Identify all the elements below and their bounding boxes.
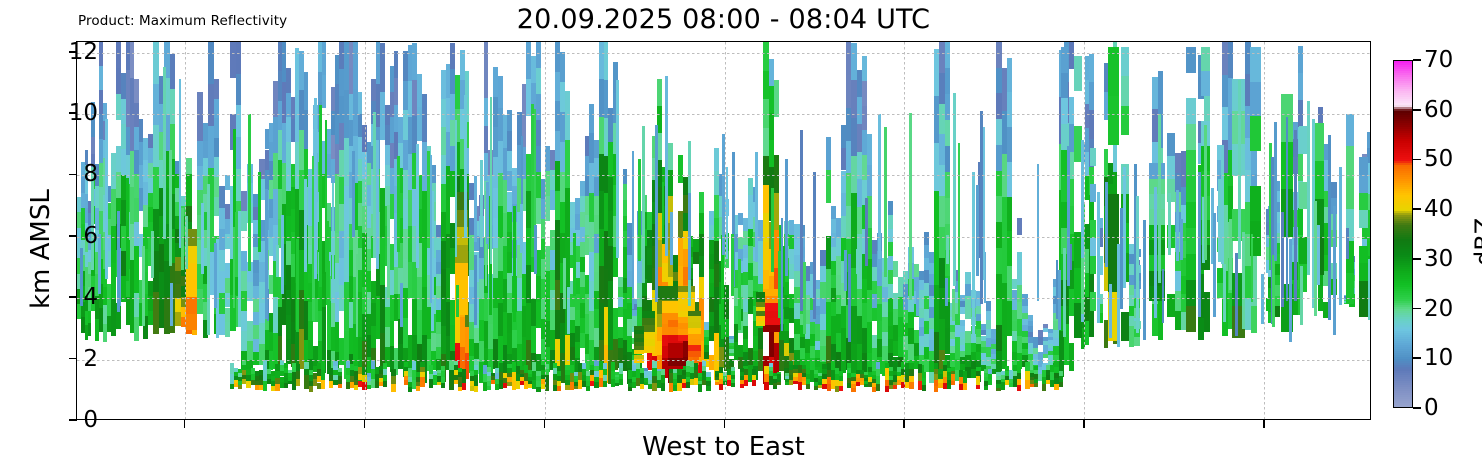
x-tick-mark xyxy=(1263,420,1265,428)
reflectivity-field xyxy=(77,42,1370,419)
colorbar-tick-mark xyxy=(1413,258,1421,260)
x-tick-mark xyxy=(724,420,726,428)
colorbar-tick-label: 30 xyxy=(1424,246,1453,272)
colorbar-tick-label: 10 xyxy=(1424,345,1453,371)
y-tick-mark xyxy=(69,235,77,237)
colorbar-tick-mark xyxy=(1413,407,1421,409)
colorbar-tick-mark xyxy=(1413,109,1421,111)
y-tick-label: 8 xyxy=(83,161,98,187)
colorbar-tick-label: 40 xyxy=(1424,196,1453,222)
y-tick-mark xyxy=(69,51,77,53)
y-tick-mark xyxy=(69,419,77,421)
x-tick-mark xyxy=(1083,420,1085,428)
x-tick-mark xyxy=(364,420,366,428)
colorbar-tick-mark xyxy=(1413,159,1421,161)
colorbar-tick-mark xyxy=(1413,208,1421,210)
colorbar-tick-mark xyxy=(1413,308,1421,310)
colorbar-tick-label: 60 xyxy=(1424,97,1453,123)
x-tick-mark xyxy=(544,420,546,428)
y-tick-label: 6 xyxy=(83,223,98,249)
y-tick-label: 4 xyxy=(83,284,98,310)
y-tick-label: 0 xyxy=(83,407,98,433)
colorbar-tick-mark xyxy=(1413,357,1421,359)
y-tick-mark xyxy=(69,296,77,298)
colorbar-tick-label: 70 xyxy=(1424,47,1453,73)
x-axis-label: West to East xyxy=(76,432,1371,462)
colorbar-tick-label: 50 xyxy=(1424,146,1453,172)
colorbar-tick-label: 0 xyxy=(1424,395,1439,421)
x-tick-mark xyxy=(903,420,905,428)
radar-cross-section-figure: Product: Maximum Reflectivity 20.09.2025… xyxy=(0,0,1482,470)
plot-area xyxy=(76,41,1371,420)
colorbar-tick-label: 20 xyxy=(1424,296,1453,322)
colorbar-label: dBZ xyxy=(1470,218,1482,266)
y-tick-mark xyxy=(69,174,77,176)
y-tick-mark xyxy=(69,358,77,360)
y-tick-mark xyxy=(69,112,77,114)
x-tick-mark xyxy=(184,420,186,428)
y-axis-label: km AMSL xyxy=(26,189,56,309)
colorbar-tick-mark xyxy=(1413,59,1421,61)
y-tick-label: 2 xyxy=(83,346,98,372)
page-title: 20.09.2025 08:00 - 08:04 UTC xyxy=(76,4,1371,35)
colorbar xyxy=(1393,60,1413,408)
